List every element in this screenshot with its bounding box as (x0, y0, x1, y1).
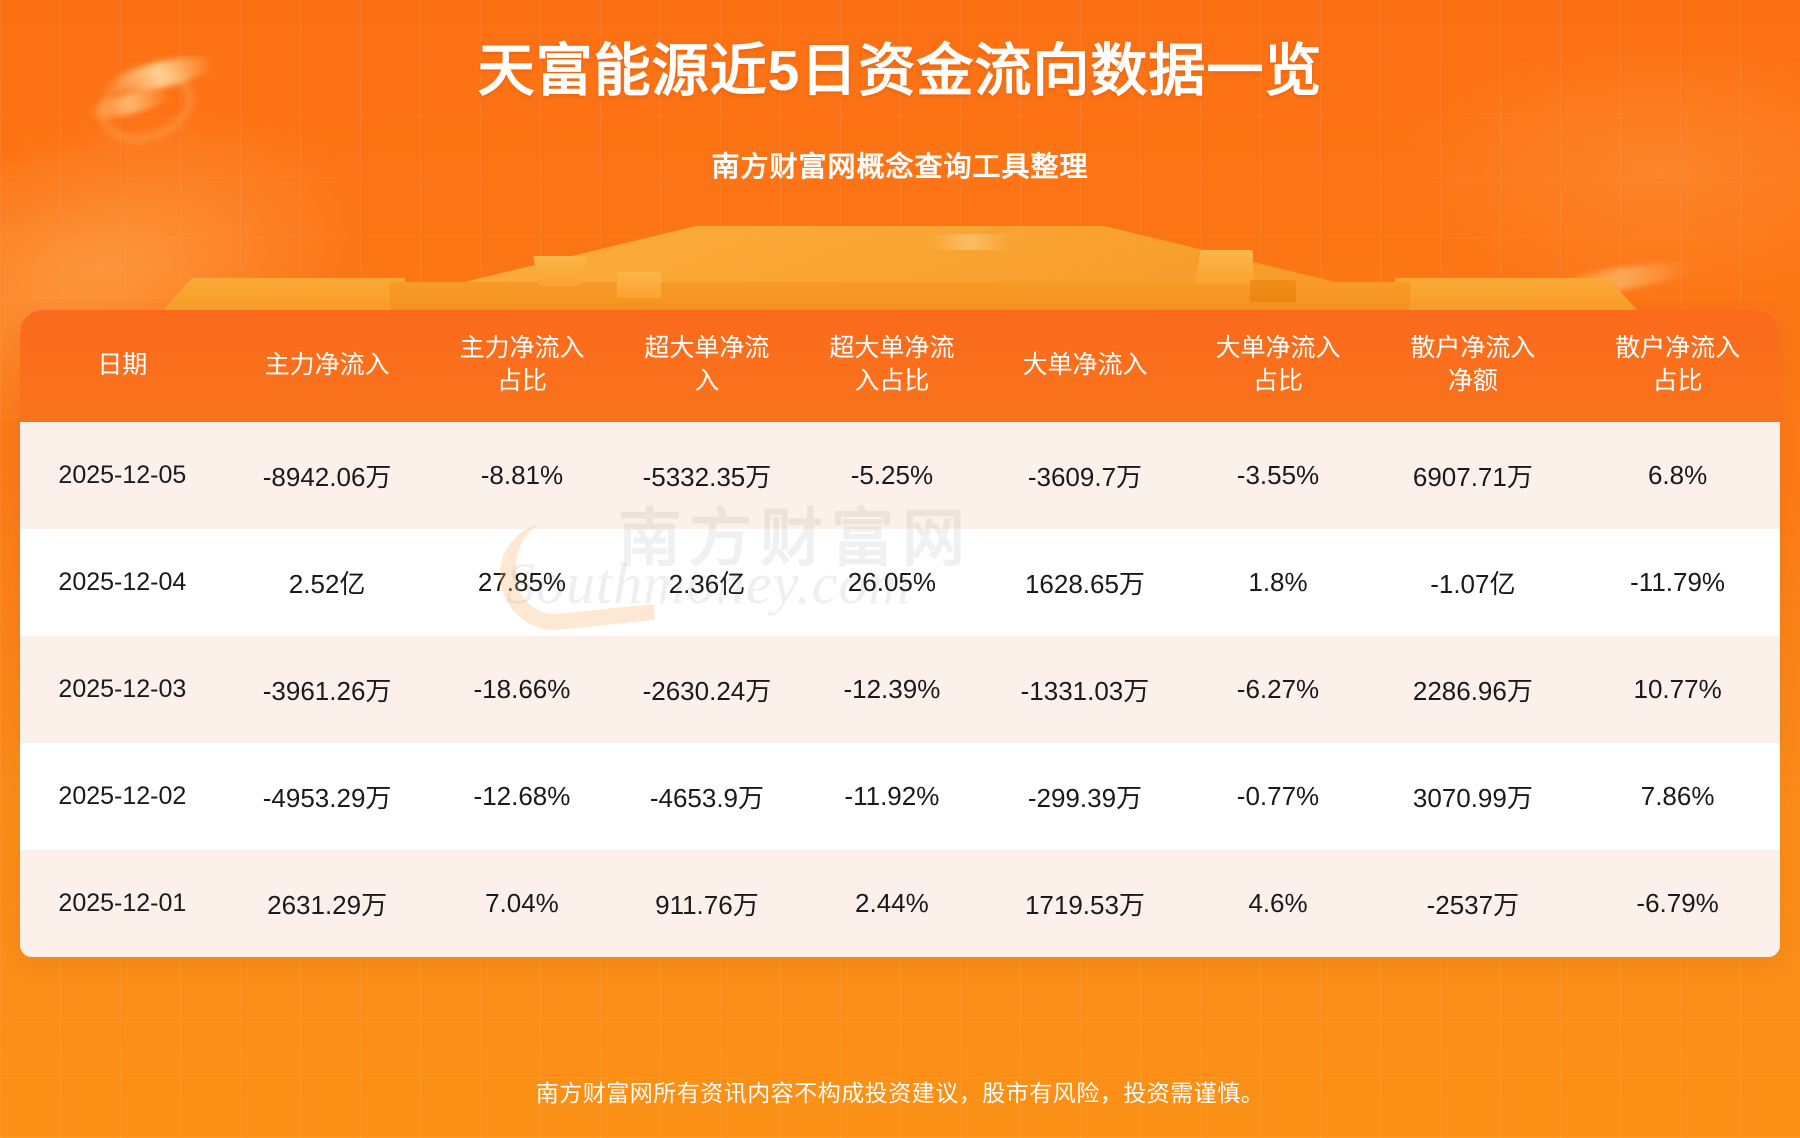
cell-value: -8.81% (429, 422, 614, 529)
column-header-main-net-inflow: 主力净流入 (225, 310, 430, 422)
cell-value: -11.92% (799, 743, 984, 850)
cell-value: 26.05% (799, 529, 984, 636)
column-header-xl-order-net-inflow-ratio: 超大单净流 入占比 (799, 310, 984, 422)
table-body: 2025-12-05-8942.06万-8.81%-5332.35万-5.25%… (20, 422, 1780, 957)
cell-value: -4653.9万 (614, 743, 799, 850)
page-subtitle: 南方财富网概念查询工具整理 (0, 145, 1800, 185)
cell-value: -3961.26万 (225, 636, 430, 743)
podium-chip-e (930, 234, 1010, 250)
cell-value: 1628.65万 (984, 529, 1185, 636)
cell-value: 3070.99万 (1370, 743, 1575, 850)
table-row: 2025-12-03-3961.26万-18.66%-2630.24万-12.3… (20, 636, 1780, 743)
footer-disclaimer: 南方财富网所有资讯内容不构成投资建议，股市有风险，投资需谨慎。 (0, 1074, 1800, 1108)
table-row: 2025-12-05-8942.06万-8.81%-5332.35万-5.25%… (20, 422, 1780, 529)
cell-value: -1.07亿 (1370, 529, 1575, 636)
cell-value: -299.39万 (984, 743, 1185, 850)
cell-value: -6.27% (1186, 636, 1371, 743)
cell-value: -3609.7万 (984, 422, 1185, 529)
cell-value: -5332.35万 (614, 422, 799, 529)
cell-date: 2025-12-05 (20, 422, 225, 529)
cell-value: 2.52亿 (225, 529, 430, 636)
column-header-large-order-net-inflow-ratio: 大单净流入 占比 (1186, 310, 1371, 422)
column-header-retail-net-inflow-amount: 散户净流入 净额 (1370, 310, 1575, 422)
header-line-2: 净额 (1448, 367, 1498, 395)
header-line-1: 散户净流入 (1410, 334, 1535, 362)
cell-value: 7.86% (1575, 743, 1780, 850)
data-table-card: 日期 主力净流入 主力净流入 占比 超大单净流 入 超大单净流 (20, 310, 1780, 957)
column-header-large-order-net-inflow: 大单净流入 (984, 310, 1185, 422)
cell-value: -18.66% (429, 636, 614, 743)
table-header-row: 日期 主力净流入 主力净流入 占比 超大单净流 入 超大单净流 (20, 310, 1780, 422)
column-header-xl-order-net-inflow: 超大单净流 入 (614, 310, 799, 422)
header-line-2: 占比 (1253, 367, 1303, 395)
cell-value: 10.77% (1575, 636, 1780, 743)
table-row: 2025-12-02-4953.29万-12.68%-4653.9万-11.92… (20, 743, 1780, 850)
header-line-1: 超大单净流 (644, 334, 769, 362)
table-row: 2025-12-012631.29万7.04%911.76万2.44%1719.… (20, 850, 1780, 957)
podium-chip-a (533, 256, 587, 286)
cell-value: 2631.29万 (225, 850, 430, 957)
column-header-retail-net-inflow-ratio: 散户净流入 占比 (1575, 310, 1780, 422)
header-line-1: 主力净流入 (459, 334, 584, 362)
column-header-main-net-inflow-ratio: 主力净流入 占比 (429, 310, 614, 422)
header-line-1: 散户净流入 (1615, 334, 1740, 362)
page-root: 天富能源近5日资金流向数据一览 南方财富网概念查询工具整理 日期 主力净流入 主… (0, 0, 1800, 1138)
podium-chip-c (1195, 250, 1253, 284)
cell-value: -8942.06万 (225, 422, 430, 529)
header-line-1: 主力净流入 (265, 351, 390, 379)
fund-flow-table: 日期 主力净流入 主力净流入 占比 超大单净流 入 超大单净流 (20, 310, 1780, 957)
header-line-1: 日期 (97, 351, 147, 379)
header-line-1: 超大单净流 (829, 334, 954, 362)
cell-value: -4953.29万 (225, 743, 430, 850)
header-line-2: 占比 (1653, 367, 1703, 395)
page-title: 天富能源近5日资金流向数据一览 (0, 36, 1800, 107)
header-block: 天富能源近5日资金流向数据一览 南方财富网概念查询工具整理 (0, 36, 1800, 185)
cell-value: -11.79% (1575, 529, 1780, 636)
cell-value: -6.79% (1575, 850, 1780, 957)
cell-date: 2025-12-02 (20, 743, 225, 850)
header-line-1: 大单净流入 (1215, 334, 1340, 362)
column-header-date: 日期 (20, 310, 225, 422)
podium-chip-d (1250, 280, 1296, 302)
cell-value: 2.44% (799, 850, 984, 957)
cell-date: 2025-12-04 (20, 529, 225, 636)
cell-date: 2025-12-01 (20, 850, 225, 957)
cell-value: 1719.53万 (984, 850, 1185, 957)
table-head: 日期 主力净流入 主力净流入 占比 超大单净流 入 超大单净流 (20, 310, 1780, 422)
cell-value: -1331.03万 (984, 636, 1185, 743)
header-line-1: 大单净流入 (1022, 351, 1147, 379)
cell-value: 7.04% (429, 850, 614, 957)
podium-chip-b (617, 272, 661, 298)
header-line-2: 入 (694, 367, 719, 395)
cell-value: 911.76万 (614, 850, 799, 957)
cell-value: -0.77% (1186, 743, 1371, 850)
cell-value: 1.8% (1186, 529, 1371, 636)
cell-date: 2025-12-03 (20, 636, 225, 743)
cell-value: 27.85% (429, 529, 614, 636)
cell-value: 6907.71万 (1370, 422, 1575, 529)
cell-value: -2537万 (1370, 850, 1575, 957)
header-line-2: 占比 (497, 367, 547, 395)
cell-value: -3.55% (1186, 422, 1371, 529)
cell-value: -12.39% (799, 636, 984, 743)
cell-value: -2630.24万 (614, 636, 799, 743)
cell-value: 2.36亿 (614, 529, 799, 636)
cell-value: -5.25% (799, 422, 984, 529)
cell-value: 6.8% (1575, 422, 1780, 529)
header-line-2: 入占比 (854, 367, 929, 395)
cell-value: 4.6% (1186, 850, 1371, 957)
cell-value: 2286.96万 (1370, 636, 1575, 743)
cell-value: -12.68% (429, 743, 614, 850)
table-row: 2025-12-042.52亿27.85%2.36亿26.05%1628.65万… (20, 529, 1780, 636)
